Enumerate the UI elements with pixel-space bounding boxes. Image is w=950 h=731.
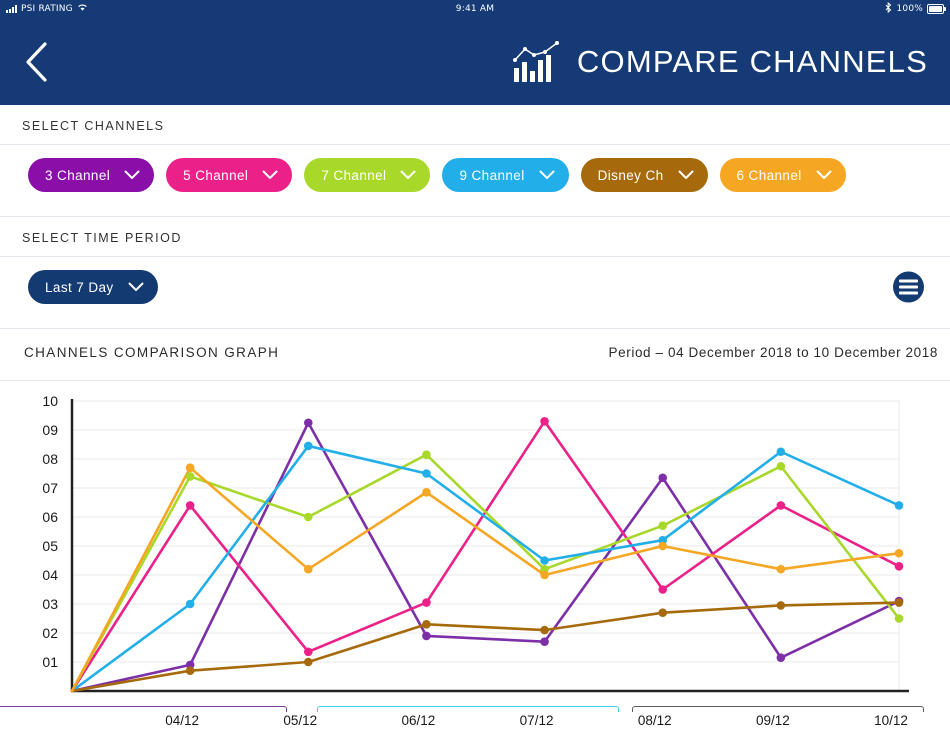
chevron-down-icon [128, 282, 144, 292]
page-title: COMPARE CHANNELS [577, 44, 928, 80]
bottom-legend-strip [0, 697, 950, 712]
back-button[interactable] [16, 39, 56, 85]
data-point[interactable] [895, 549, 904, 558]
data-point[interactable] [777, 565, 786, 574]
data-point[interactable] [304, 565, 313, 574]
app-header: COMPARE CHANNELS [0, 18, 950, 105]
time-period-dropdown[interactable]: Last 7 Day [28, 270, 158, 304]
channel-pill-label: 5 Channel [183, 168, 248, 183]
channel-pill-5[interactable]: Disney Ch [581, 158, 708, 192]
comparison-line-chart: 0102030405060708091004/1205/1206/1207/12… [0, 381, 950, 731]
data-point[interactable] [895, 501, 904, 510]
x-axis-tick: 10/12 [874, 713, 908, 728]
data-point[interactable] [422, 488, 431, 497]
data-point[interactable] [422, 620, 431, 629]
data-point[interactable] [540, 571, 549, 580]
data-point[interactable] [304, 513, 313, 522]
chevron-left-icon [23, 41, 49, 83]
select-channels-label: SELECT CHANNELS [0, 105, 950, 133]
y-axis-tick: 10 [42, 393, 58, 409]
data-point[interactable] [895, 562, 904, 571]
data-point[interactable] [777, 447, 786, 456]
legend-tab[interactable] [0, 706, 287, 712]
y-axis-tick: 09 [42, 422, 58, 438]
x-axis-tick: 08/12 [638, 713, 672, 728]
channel-pill-6[interactable]: 6 Channel [720, 158, 846, 192]
channel-pill-label: 7 Channel [321, 168, 386, 183]
data-point[interactable] [540, 637, 549, 646]
channel-pill-label: 3 Channel [45, 168, 110, 183]
y-axis-tick: 02 [42, 625, 58, 641]
y-axis-tick: 05 [42, 538, 58, 554]
chart-period-label: Period – 04 December 2018 to 10 December… [609, 345, 938, 360]
data-point[interactable] [304, 658, 313, 667]
data-point[interactable] [658, 585, 667, 594]
legend-tab[interactable] [632, 706, 924, 712]
time-period-row: Last 7 Day [0, 257, 950, 317]
x-axis-tick: 04/12 [165, 713, 199, 728]
y-axis-tick: 04 [42, 567, 58, 583]
data-point[interactable] [186, 463, 195, 472]
data-point[interactable] [186, 472, 195, 481]
y-axis-tick: 03 [42, 596, 58, 612]
data-point[interactable] [422, 632, 431, 641]
data-point[interactable] [777, 501, 786, 510]
brand-block: COMPARE CHANNELS [512, 40, 928, 84]
bar-chart-logo-icon [512, 40, 564, 84]
channel-pill-label: Disney Ch [598, 168, 664, 183]
y-axis-tick: 07 [42, 480, 58, 496]
y-axis-tick: 08 [42, 451, 58, 467]
data-point[interactable] [895, 614, 904, 623]
chevron-down-icon [678, 170, 694, 180]
x-axis-tick: 07/12 [520, 713, 554, 728]
chevron-down-icon [124, 170, 140, 180]
data-point[interactable] [777, 462, 786, 471]
hamburger-menu-icon[interactable] [893, 272, 924, 303]
time-period-value: Last 7 Day [45, 280, 114, 295]
channel-pill-3[interactable]: 7 Channel [304, 158, 430, 192]
data-point[interactable] [540, 417, 549, 426]
data-point[interactable] [304, 648, 313, 657]
data-point[interactable] [895, 598, 904, 607]
data-point[interactable] [422, 450, 431, 459]
data-point[interactable] [658, 542, 667, 551]
data-point[interactable] [540, 556, 549, 565]
data-point[interactable] [304, 418, 313, 427]
chart-title: CHANNELS COMPARISON GRAPH [24, 345, 279, 360]
data-point[interactable] [658, 608, 667, 617]
y-axis-tick: 01 [42, 654, 58, 670]
data-point[interactable] [422, 469, 431, 478]
select-time-period-label: SELECT TIME PERIOD [0, 217, 950, 245]
series-line-3-channel [72, 423, 899, 691]
channel-pill-4[interactable]: 9 Channel [442, 158, 568, 192]
chart-card: CHANNELS COMPARISON GRAPH Period – 04 De… [0, 329, 950, 731]
status-bar-time: 9:41 AM [0, 4, 950, 14]
data-point[interactable] [422, 598, 431, 607]
status-bar: PSI RATING 9:41 AM 100% [0, 0, 950, 18]
channel-pill-label: 9 Channel [459, 168, 524, 183]
x-axis-tick: 06/12 [402, 713, 436, 728]
x-axis-tick: 05/12 [283, 713, 317, 728]
data-point[interactable] [186, 666, 195, 675]
chevron-down-icon [400, 170, 416, 180]
chart-header: CHANNELS COMPARISON GRAPH Period – 04 De… [0, 329, 950, 369]
data-point[interactable] [658, 521, 667, 530]
data-point[interactable] [186, 501, 195, 510]
chevron-down-icon [539, 170, 555, 180]
selection-panel: SELECT CHANNELS 3 Channel5 Channel7 Chan… [0, 105, 950, 329]
y-axis-tick: 06 [42, 509, 58, 525]
x-axis-tick: 09/12 [756, 713, 790, 728]
data-point[interactable] [777, 653, 786, 662]
series-line-6-channel [72, 468, 899, 691]
channel-pill-2[interactable]: 5 Channel [166, 158, 292, 192]
data-point[interactable] [304, 442, 313, 451]
chevron-down-icon [816, 170, 832, 180]
channel-pill-row: 3 Channel5 Channel7 Channel9 ChannelDisn… [0, 145, 950, 205]
compare-channels-screen: PSI RATING 9:41 AM 100% [0, 0, 950, 712]
battery-full-icon [927, 4, 944, 14]
channel-pill-label: 6 Channel [737, 168, 802, 183]
data-point[interactable] [540, 626, 549, 635]
legend-tab[interactable] [317, 706, 619, 712]
data-point[interactable] [186, 600, 195, 609]
channel-pill-1[interactable]: 3 Channel [28, 158, 154, 192]
data-point[interactable] [658, 474, 667, 483]
chevron-down-icon [262, 170, 278, 180]
data-point[interactable] [777, 601, 786, 610]
